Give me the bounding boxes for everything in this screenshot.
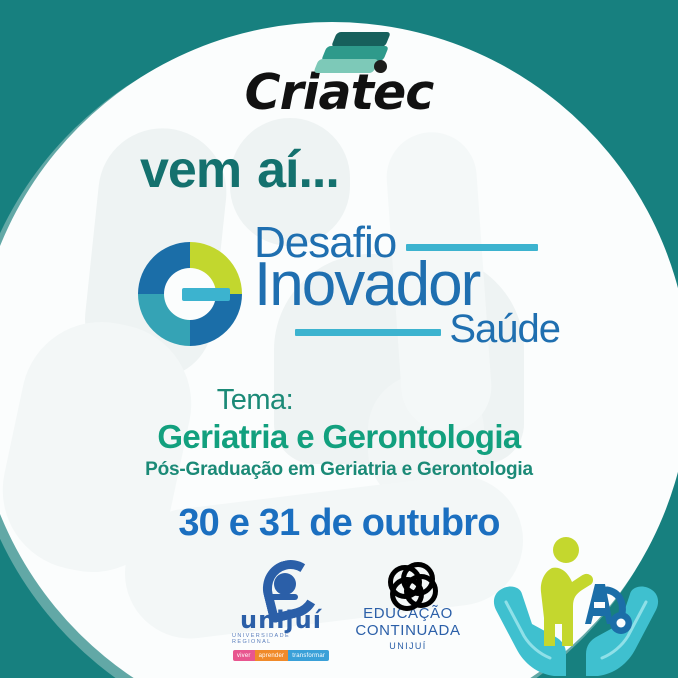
rule-bottom xyxy=(295,329,441,336)
teaser-word-1: vem xyxy=(140,141,241,199)
unijui-descriptor: UNIVERSIDADE REGIONAL xyxy=(232,633,330,645)
educacao-line-2: CONTINUADA xyxy=(355,622,460,639)
footer-logos: unijuí UNIVERSIDADE REGIONAL viver apren… xyxy=(228,560,468,672)
unijui-tagline: viver aprender transformar xyxy=(233,650,329,661)
unijui-logo: unijuí UNIVERSIDADE REGIONAL viver apren… xyxy=(232,560,330,661)
tagline-item-1: viver xyxy=(233,650,255,661)
theme-subtitle: Pós-Graduação em Geriatria e Gerontologi… xyxy=(0,460,678,481)
event-logo-lockup: Desafio Inovador Saúde xyxy=(138,222,558,382)
event-word-saude: Saúde xyxy=(449,309,560,349)
circular-e-emblem-icon xyxy=(138,242,242,346)
unijui-bird-icon xyxy=(257,560,305,606)
teaser-word-2: aí... xyxy=(257,141,339,199)
theme-title: Geriatria e Gerontologia xyxy=(0,419,678,455)
criatec-brand-lockup: Criatec xyxy=(0,32,678,117)
event-word-desafio: Desafio xyxy=(254,222,396,264)
tagline-item-2: aprender xyxy=(255,650,289,661)
event-wordmark: Desafio Inovador Saúde xyxy=(254,222,560,349)
teaser-text: vemaí... xyxy=(140,140,339,200)
tagline-item-3: transformar xyxy=(288,650,329,661)
theme-block: Tema: Geriatria e Gerontologia Pós-Gradu… xyxy=(0,385,678,481)
theme-label: Tema: xyxy=(0,385,678,417)
knot-icon xyxy=(388,562,428,602)
rule-top xyxy=(406,244,538,251)
criatec-wordmark: Criatec xyxy=(245,68,434,117)
poster-canvas: Criatec vemaí... Desafio Inovador Saúde … xyxy=(0,0,678,678)
educacao-line-3: UNIJUÍ xyxy=(389,641,426,652)
educacao-continuada-logo: EDUCAÇÃO CONTINUADA UNIJUÍ xyxy=(352,560,464,651)
elderly-care-icon xyxy=(492,528,660,678)
criatec-chevrons-icon xyxy=(308,32,404,72)
